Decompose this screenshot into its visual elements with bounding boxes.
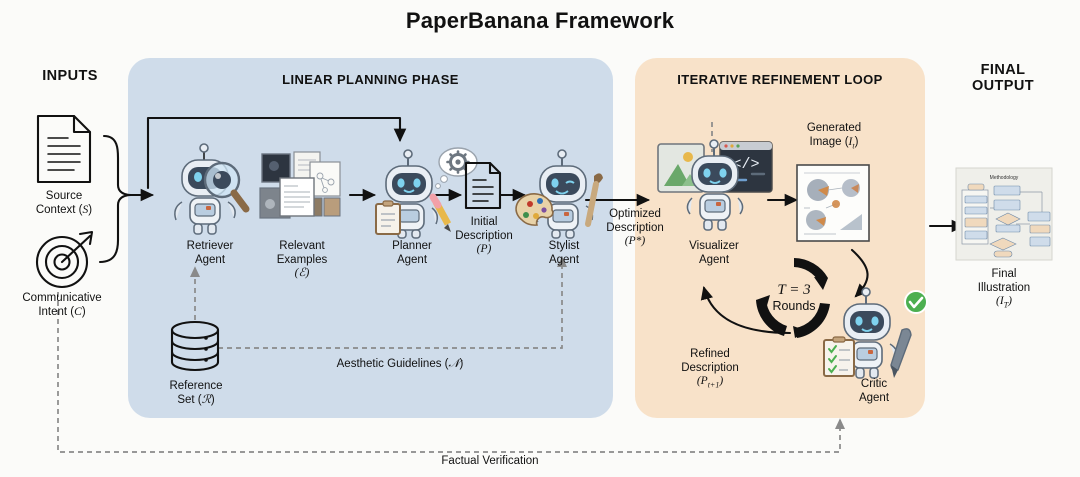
caption-generated-image: Generated Image (It) [778, 122, 890, 152]
communicative-intent-line1: Communicative [0, 292, 124, 306]
reference-set-line1: Reference [150, 380, 242, 394]
label-aesthetic-guidelines: Aesthetic Guidelines (𝒩) [250, 358, 550, 372]
refined-description-line2: Description [650, 362, 770, 376]
paper-collage-icon [258, 148, 344, 234]
generated-image-line1: Generated [778, 122, 890, 136]
initial-description-document-icon [462, 160, 504, 212]
stylist-agent-line2: Agent [518, 254, 610, 268]
robot-critic-icon [822, 286, 932, 390]
final-illustration-symbol: (IT) [948, 295, 1060, 312]
relevant-examples-line1: Relevant [254, 240, 350, 254]
initial-description-line1: Initial [444, 216, 524, 230]
retriever-agent-line2: Agent [158, 254, 262, 268]
caption-source-context: Source Context (S) [4, 190, 124, 217]
critic-agent-line2: Agent [828, 392, 920, 406]
initial-description-symbol: (P) [444, 243, 524, 257]
robot-screens-icon: </> [656, 130, 774, 236]
figure-canvas: LINEAR PLANNING PHASE ITERATIVE REFINEME… [0, 0, 1080, 477]
reference-set-line2: Set (ℛ) [150, 394, 242, 408]
generated-image-icon [796, 164, 870, 244]
caption-initial-description: Initial Description (P) [444, 216, 524, 257]
svg-text:Rounds: Rounds [772, 299, 815, 313]
final-illustration-line1: Final [948, 268, 1060, 282]
svg-text:T = 3: T = 3 [777, 282, 810, 298]
retriever-agent-line1: Retriever [158, 240, 262, 254]
source-context-line1: Source [4, 190, 124, 204]
caption-critic-agent: Critic Agent [828, 378, 920, 405]
label-factual-verification: Factual Verification [340, 455, 640, 469]
caption-relevant-examples: Relevant Examples (ℰ) [254, 240, 350, 281]
relevant-examples-symbol: (ℰ) [254, 267, 350, 281]
critic-agent-line1: Critic [828, 378, 920, 392]
initial-description-line2: Description [444, 230, 524, 244]
refined-description-line1: Refined [650, 348, 770, 362]
caption-communicative-intent: Communicative Intent (C) [0, 292, 124, 319]
refined-description-symbol: (Pt+1) [650, 375, 770, 392]
database-icon [166, 318, 226, 378]
final-illustration-line2: Illustration [948, 282, 1060, 296]
relevant-examples-line2: Examples [254, 254, 350, 268]
flowchart-thumbnail-icon: Methodology [956, 168, 1052, 260]
caption-final-illustration: Final Illustration (IT) [948, 268, 1060, 312]
caption-retriever-agent: Retriever Agent [158, 240, 262, 267]
target-icon [30, 228, 100, 290]
communicative-intent-line2: Intent (C) [0, 306, 124, 320]
caption-reference-set: Reference Set (ℛ) [150, 380, 242, 407]
svg-text:Methodology: Methodology [990, 175, 1019, 181]
generated-image-line2: Image (It) [778, 136, 890, 153]
caption-refined-description: Refined Description (Pt+1) [650, 348, 770, 392]
source-context-line2: Context (S) [4, 204, 124, 218]
robot-magnifier-icon [160, 140, 260, 236]
document-icon [32, 112, 96, 186]
